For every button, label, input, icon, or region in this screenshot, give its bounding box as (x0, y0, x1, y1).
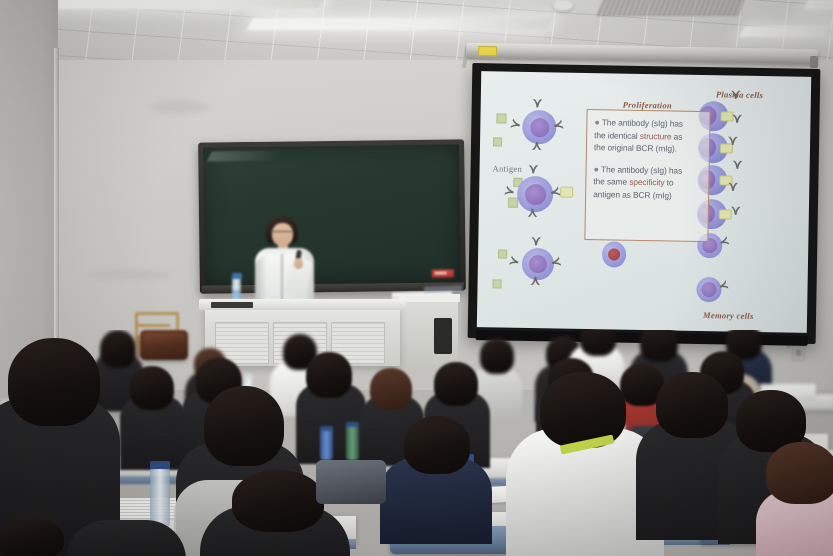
roller-warning-label (478, 46, 497, 56)
bullet-text: as (671, 131, 682, 141)
student-head (404, 416, 470, 474)
student-head (130, 366, 174, 410)
antigen-particle (492, 279, 501, 288)
backpack (316, 460, 386, 504)
antigen-particle (493, 137, 502, 146)
ceiling-light (247, 18, 553, 30)
wall-mark (150, 100, 210, 114)
bottle-cap (244, 374, 253, 379)
ceiling-light (49, 0, 326, 9)
student-head (480, 338, 514, 374)
b-cell: ⋎ ⋎ ⋎ ⋎ (522, 248, 555, 281)
bottle-cap (232, 273, 242, 279)
audience-area (0, 330, 833, 556)
bcr-receptor: ⋎ (531, 275, 541, 288)
bullet-text: the original BCR (mIg). (594, 142, 677, 153)
bottle-label (232, 290, 241, 299)
chalkboard-glare (206, 151, 282, 162)
bcr-receptor: ⋎ (506, 255, 521, 268)
bullet-text: The antibody (sIg) has (601, 164, 682, 175)
student-head (100, 330, 136, 368)
bcr-receptor: ⋎ (532, 140, 542, 153)
bullet-text: the same (593, 176, 629, 187)
antibody: ⋎ (731, 204, 741, 217)
projection-screen: ⋎ ⋎ ⋎ ⋎ ⋎ ⋎ ⋎ ⋎ ⋎ ⋎ (468, 63, 821, 344)
console-top (398, 294, 460, 302)
slide-textbox: ● The antibody (sIg) has the identical s… (584, 109, 710, 242)
podium-monitor-recess (211, 302, 253, 308)
activation-signal (560, 187, 573, 198)
antibody: ⋎ (732, 112, 742, 125)
antigen-particle (496, 113, 506, 123)
screen-roller-end-cap (810, 56, 818, 68)
ceiling-light (739, 26, 833, 37)
activated-cell (602, 241, 626, 267)
bcr-receptor: ⋎ (549, 256, 564, 268)
ceiling-light (804, 0, 833, 9)
chair-rail (138, 324, 170, 327)
chalkboard (198, 139, 466, 293)
bullet-line: the original BCR (mIg). (594, 141, 702, 155)
student-head (0, 518, 64, 556)
bullet-marker: ● (594, 117, 600, 127)
bullet-text: antigen as BCR (mIg) (593, 189, 672, 200)
antibody: ⋎ (728, 179, 738, 192)
bottle-cap (346, 422, 359, 427)
student-head (640, 330, 678, 362)
bcr-receptor: ⋎ (508, 118, 523, 131)
water-bottle (150, 468, 170, 528)
antibody: ⋎ (733, 158, 743, 171)
memory-cell: ⋎ (696, 277, 721, 302)
ceiling-speaker (553, 0, 573, 11)
water-bottle (346, 426, 359, 460)
bullet-text: The antibody (sIg) has (602, 117, 683, 128)
book-stack (116, 498, 182, 518)
b-cell: ⋎ ⋎ ⋎ ⋎ (522, 110, 557, 145)
slide-label-memory-cells: Memory cells (703, 310, 754, 321)
ceiling-vent (596, 0, 745, 16)
b-cell: ⋎ ⋎ ⋎ ⋎ (517, 176, 554, 213)
water-bottle (320, 430, 333, 460)
bcr-receptor: ⋎ (531, 234, 541, 247)
bullet-marker: ● (594, 164, 600, 174)
bottle-cap (320, 426, 333, 431)
bcr-receptor: ⋎ (501, 185, 516, 198)
student-head (8, 338, 100, 426)
student-head (656, 372, 728, 438)
slide-label-plasma-cells: Plasma cells (716, 89, 763, 100)
wall-mark (90, 270, 170, 280)
student-head (306, 352, 352, 398)
antibody: ⋎ (728, 133, 738, 146)
bullet-text: to (664, 178, 673, 188)
chalk-box (432, 270, 454, 278)
student-head (370, 368, 412, 410)
bullet-highlight: structure (640, 131, 672, 142)
chalkboard-surface (203, 144, 461, 284)
student-head (232, 470, 324, 532)
bottle-cap (150, 461, 170, 469)
bcr-receptor: ⋎ (533, 96, 543, 109)
bcr-receptor: ⋎ (528, 207, 538, 220)
student-head (204, 386, 284, 466)
student-head (580, 330, 616, 356)
slide-label-antigen: Antigen (493, 163, 523, 174)
bullet-highlight: specificity (629, 177, 664, 188)
bullet-text: the identical (594, 130, 640, 141)
projection-screen-surface: ⋎ ⋎ ⋎ ⋎ ⋎ ⋎ ⋎ ⋎ ⋎ ⋎ (477, 71, 811, 333)
student-head (766, 442, 833, 504)
bcr-receptor: ⋎ (528, 162, 538, 175)
eyeglasses (273, 231, 292, 237)
bullet-line: antigen as BCR (mIg) (593, 188, 701, 202)
lecturer (253, 216, 317, 312)
lecturer-hand (294, 258, 303, 269)
slide-content: ⋎ ⋎ ⋎ ⋎ ⋎ ⋎ ⋎ ⋎ ⋎ ⋎ (477, 71, 811, 333)
bcr-receptor: ⋎ (552, 119, 567, 131)
student-head (434, 362, 478, 406)
lecture-hall-photo: ⋎ ⋎ ⋎ ⋎ ⋎ ⋎ ⋎ ⋎ ⋎ ⋎ (0, 0, 833, 556)
